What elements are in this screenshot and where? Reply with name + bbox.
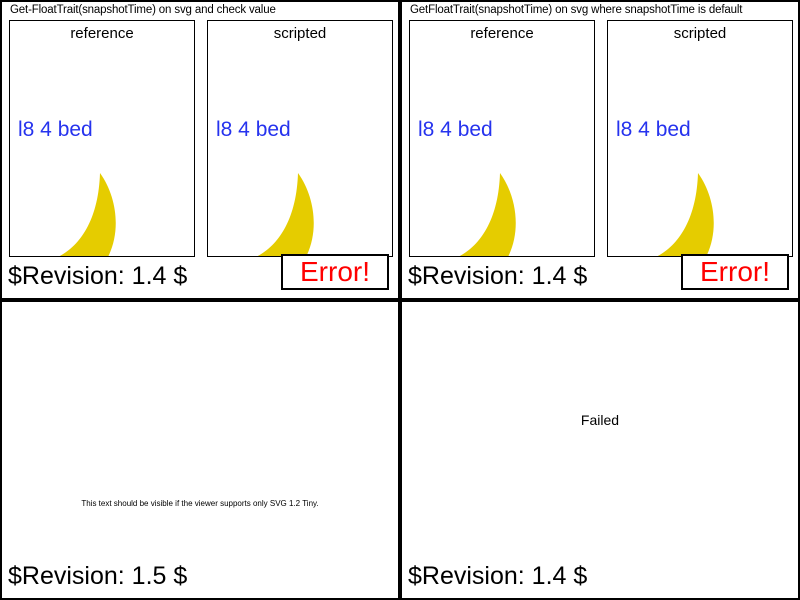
crescent-moon-icon	[626, 171, 736, 257]
rendered-blue-text: l8 4 bed	[18, 118, 93, 142]
quadrant-top-left: Get-FloatTrait(snapshotTime) on svg and …	[0, 0, 400, 300]
pane-pair: reference l8 4 bed scripted l8 4 bed	[2, 20, 400, 258]
status-badge: Error!	[681, 254, 789, 290]
revision-label: $Revision: 1.4 $	[8, 262, 187, 291]
revision-label: $Revision: 1.4 $	[408, 262, 587, 291]
test-title: Get-FloatTrait(snapshotTime) on svg and …	[10, 4, 276, 17]
crescent-moon-icon	[226, 171, 336, 257]
pane-label-reference: reference	[410, 25, 594, 42]
test-title: GetFloatTrait(snapshotTime) on svg where…	[410, 4, 742, 17]
reference-pane: reference l8 4 bed	[9, 20, 195, 257]
reference-pane: reference l8 4 bed	[409, 20, 595, 257]
rendered-blue-text: l8 4 bed	[216, 118, 291, 142]
pane-label-scripted: scripted	[208, 25, 392, 42]
pane-label-reference: reference	[10, 25, 194, 42]
svg-tiny-fallback-note: This text should be visible if the viewe…	[2, 499, 398, 508]
revision-label: $Revision: 1.5 $	[8, 562, 187, 591]
status-badge-label: Error!	[683, 258, 787, 286]
scripted-pane: scripted l8 4 bed	[207, 20, 393, 257]
revision-label: $Revision: 1.4 $	[408, 562, 587, 591]
crescent-moon-icon	[28, 171, 138, 257]
failure-note: Failed	[402, 412, 798, 428]
svg-test-results-page: Get-FloatTrait(snapshotTime) on svg and …	[0, 0, 800, 600]
rendered-blue-text: l8 4 bed	[616, 118, 691, 142]
crescent-moon-icon	[428, 171, 538, 257]
status-badge-label: Error!	[283, 258, 387, 286]
status-badge: Error!	[281, 254, 389, 290]
rendered-blue-text: l8 4 bed	[418, 118, 493, 142]
pane-label-scripted: scripted	[608, 25, 792, 42]
quadrant-top-right: GetFloatTrait(snapshotTime) on svg where…	[400, 0, 800, 300]
quadrant-bottom-right: Failed $Revision: 1.4 $	[400, 300, 800, 600]
quadrant-bottom-left: This text should be visible if the viewe…	[0, 300, 400, 600]
pane-pair: reference l8 4 bed scripted l8 4 bed	[402, 20, 800, 258]
scripted-pane: scripted l8 4 bed	[607, 20, 793, 257]
